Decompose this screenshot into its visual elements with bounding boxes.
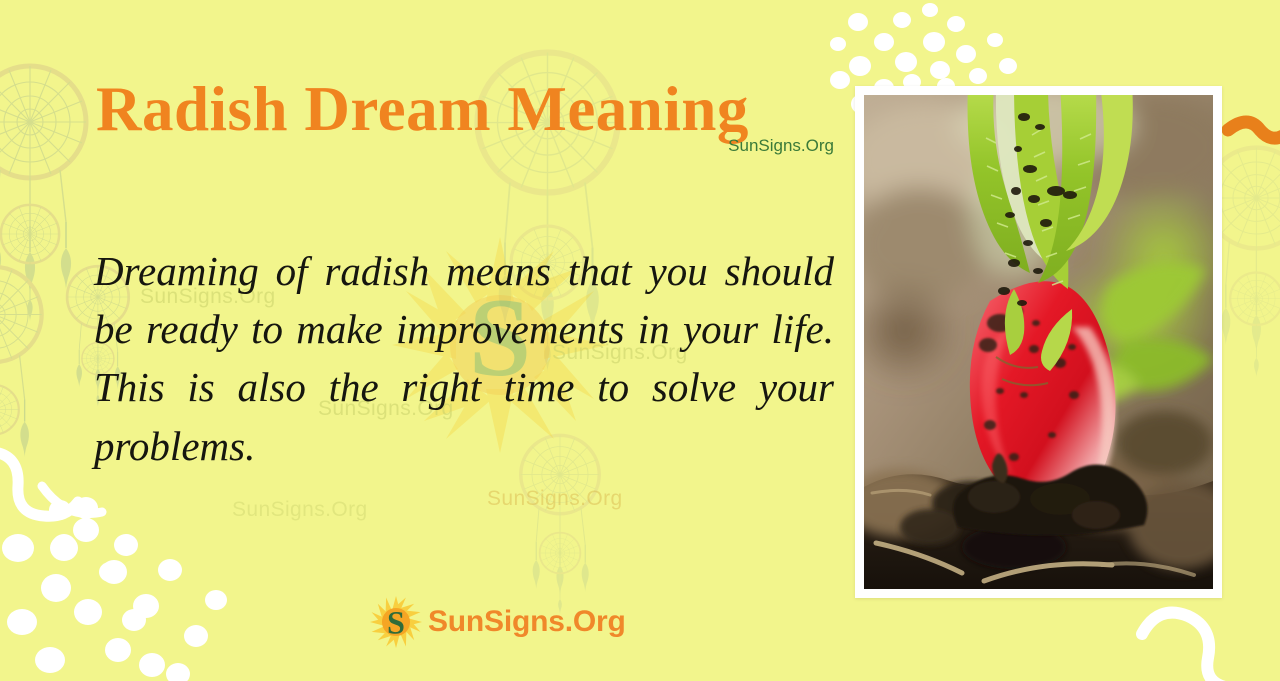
svg-text:S: S [387,604,405,640]
footer-wordmark: SunSigns.Org [428,605,626,639]
wavy-line-decoration-bottom-right [1142,613,1230,681]
arc-decoration [42,486,102,514]
photo-frame [855,86,1222,598]
watermark-text: SunSigns.Org [487,487,623,511]
page-title: Radish Dream Meaning [96,78,856,141]
banner-graphic: S SunSigns.Org SunSigns.Org SunSigns.Org… [0,0,1280,681]
wavy-line-decoration-right [1228,122,1280,138]
body-paragraph: Dreaming of radish means that you should… [94,242,834,475]
radish-photo [864,95,1213,589]
footer-logo[interactable]: S SunSigns.Org [370,596,626,648]
title-block: Radish Dream Meaning SunSigns.Org [96,78,856,141]
title-credit-text: SunSigns.Org [728,136,834,156]
watermark-text: SunSigns.Org [232,498,368,522]
wavy-line-decoration-left [0,452,78,516]
dot-cluster-bottom-left [2,497,227,681]
sun-logo-icon: S [370,596,422,648]
